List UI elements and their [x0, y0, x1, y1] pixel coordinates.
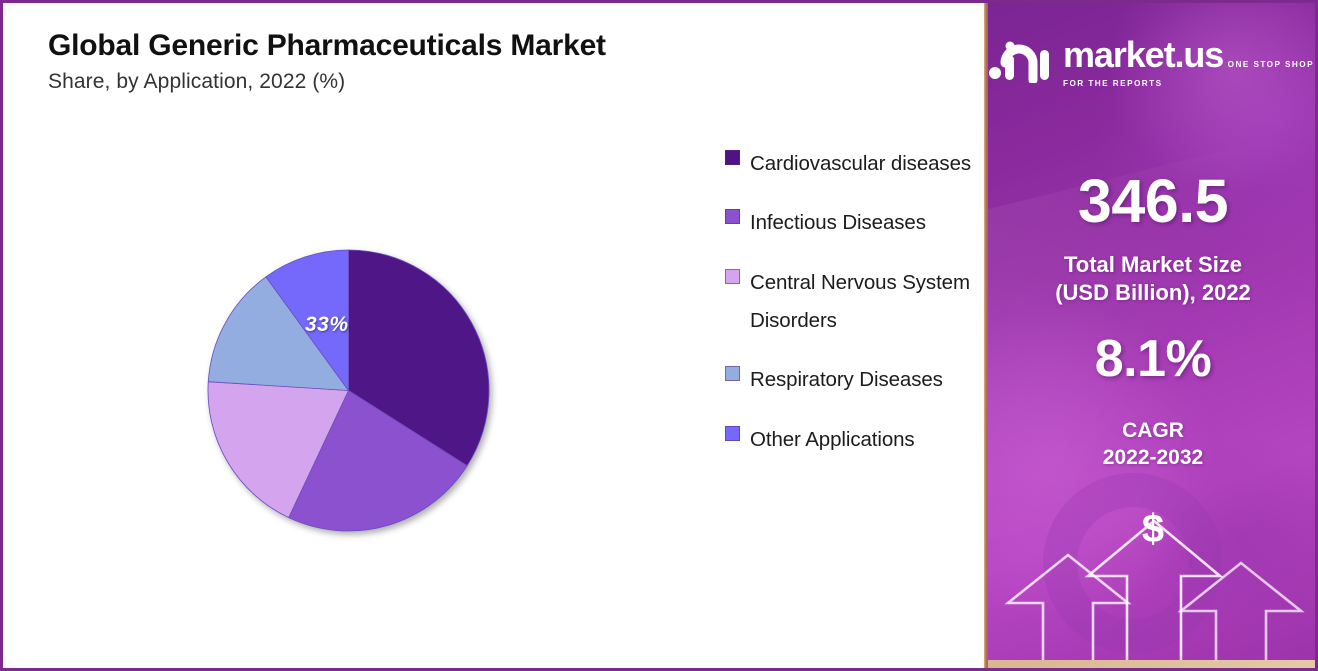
- legend-item-label: Respiratory Diseases: [750, 361, 943, 399]
- legend-item[interactable]: Other Applications: [725, 421, 975, 459]
- legend-swatch-icon: [725, 269, 740, 284]
- legend-item-label: Cardiovascular diseases: [750, 145, 971, 183]
- market-us-logo-icon: [988, 41, 1054, 88]
- page-subtitle: Share, by Application, 2022 (%): [48, 70, 928, 94]
- cagr-label: CAGR 2022-2032: [988, 418, 1318, 472]
- legend-swatch-icon: [725, 366, 740, 381]
- legend-item[interactable]: Respiratory Diseases: [725, 361, 975, 399]
- legend-swatch-icon: [725, 426, 740, 441]
- chart-panel: Global Generic Pharmaceuticals Market Sh…: [3, 3, 984, 668]
- legend-swatch-icon: [725, 209, 740, 224]
- infographic-page: Global Generic Pharmaceuticals Market Sh…: [0, 0, 1318, 671]
- dollar-icon: $: [988, 509, 1318, 549]
- pie-slice-label-cardiovascular: 33%: [305, 313, 349, 337]
- market-size-label: Total Market Size (USD Billion), 2022: [988, 251, 1318, 307]
- market-size-value: 346.5: [988, 171, 1318, 232]
- legend-item[interactable]: Cardiovascular diseases: [725, 145, 975, 183]
- growth-arrows: $: [988, 493, 1318, 668]
- pie-chart-svg: [208, 250, 489, 531]
- legend-item[interactable]: Infectious Diseases: [725, 204, 975, 242]
- brand-logo-text: market.us ONE STOP SHOP FOR THE REPORTS: [1063, 37, 1318, 91]
- title-block: Global Generic Pharmaceuticals Market Sh…: [48, 29, 928, 94]
- cagr-label-line1: CAGR: [988, 418, 1318, 445]
- page-title: Global Generic Pharmaceuticals Market: [48, 29, 928, 63]
- brand-panel: market.us ONE STOP SHOP FOR THE REPORTS …: [988, 3, 1318, 668]
- cagr-label-line2: 2022-2032: [988, 445, 1318, 472]
- market-size-label-line2: (USD Billion), 2022: [988, 279, 1318, 307]
- pie-chart: [208, 250, 489, 531]
- legend-item[interactable]: Central Nervous System Disorders: [725, 264, 975, 341]
- chart-legend: Cardiovascular diseasesInfectious Diseas…: [725, 145, 975, 480]
- legend-swatch-icon: [725, 150, 740, 165]
- brand-wordmark: market.us: [1063, 34, 1223, 75]
- brand-logo: market.us ONE STOP SHOP FOR THE REPORTS: [988, 37, 1318, 91]
- cagr-value: 8.1%: [988, 333, 1318, 385]
- market-size-label-line1: Total Market Size: [988, 251, 1318, 279]
- legend-item-label: Other Applications: [750, 421, 915, 459]
- bottom-accent-strip: [988, 660, 1318, 668]
- legend-item-label: Central Nervous System Disorders: [750, 264, 975, 341]
- legend-item-label: Infectious Diseases: [750, 204, 926, 242]
